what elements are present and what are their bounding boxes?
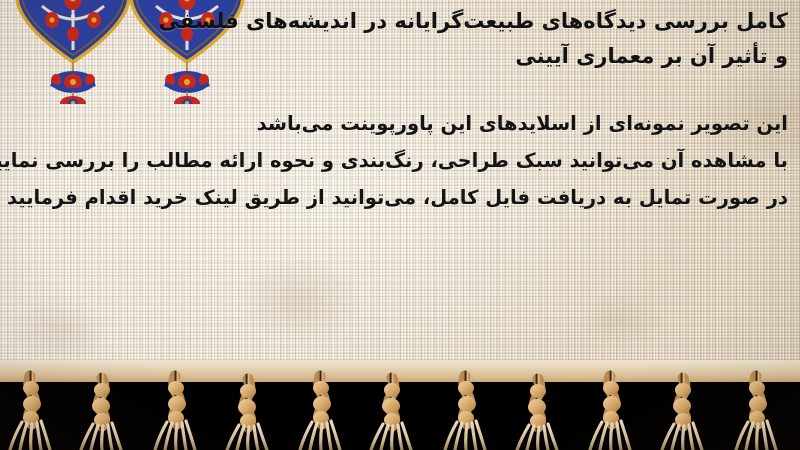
fringe-tassels-icon [0, 360, 800, 450]
slide-canvas: کامل بررسی دیدگاه‌های طبیعت‌گرایانه در ا… [0, 0, 800, 450]
tassel-group [10, 376, 776, 450]
title-line-1: کامل بررسی دیدگاه‌های طبیعت‌گرایانه در ا… [8, 4, 788, 39]
title-line-2: و تأثیر آن بر معماری آیینی [8, 39, 788, 74]
slide-title: کامل بررسی دیدگاه‌های طبیعت‌گرایانه در ا… [8, 4, 788, 74]
carpet-fringe [0, 360, 800, 450]
slide-body: این تصویر نمونه‌ای از اسلایدهای این پاور… [8, 105, 788, 216]
body-line-1: این تصویر نمونه‌ای از اسلایدهای این پاور… [8, 105, 788, 142]
body-line-2: با مشاهده آن می‌توانید سبک طراحی، رنگ‌بن… [8, 142, 788, 179]
body-line-3: در صورت تمایل به دریافت فایل کامل، می‌تو… [8, 179, 788, 216]
slide-text-layer: کامل بررسی دیدگاه‌های طبیعت‌گرایانه در ا… [0, 0, 800, 382]
